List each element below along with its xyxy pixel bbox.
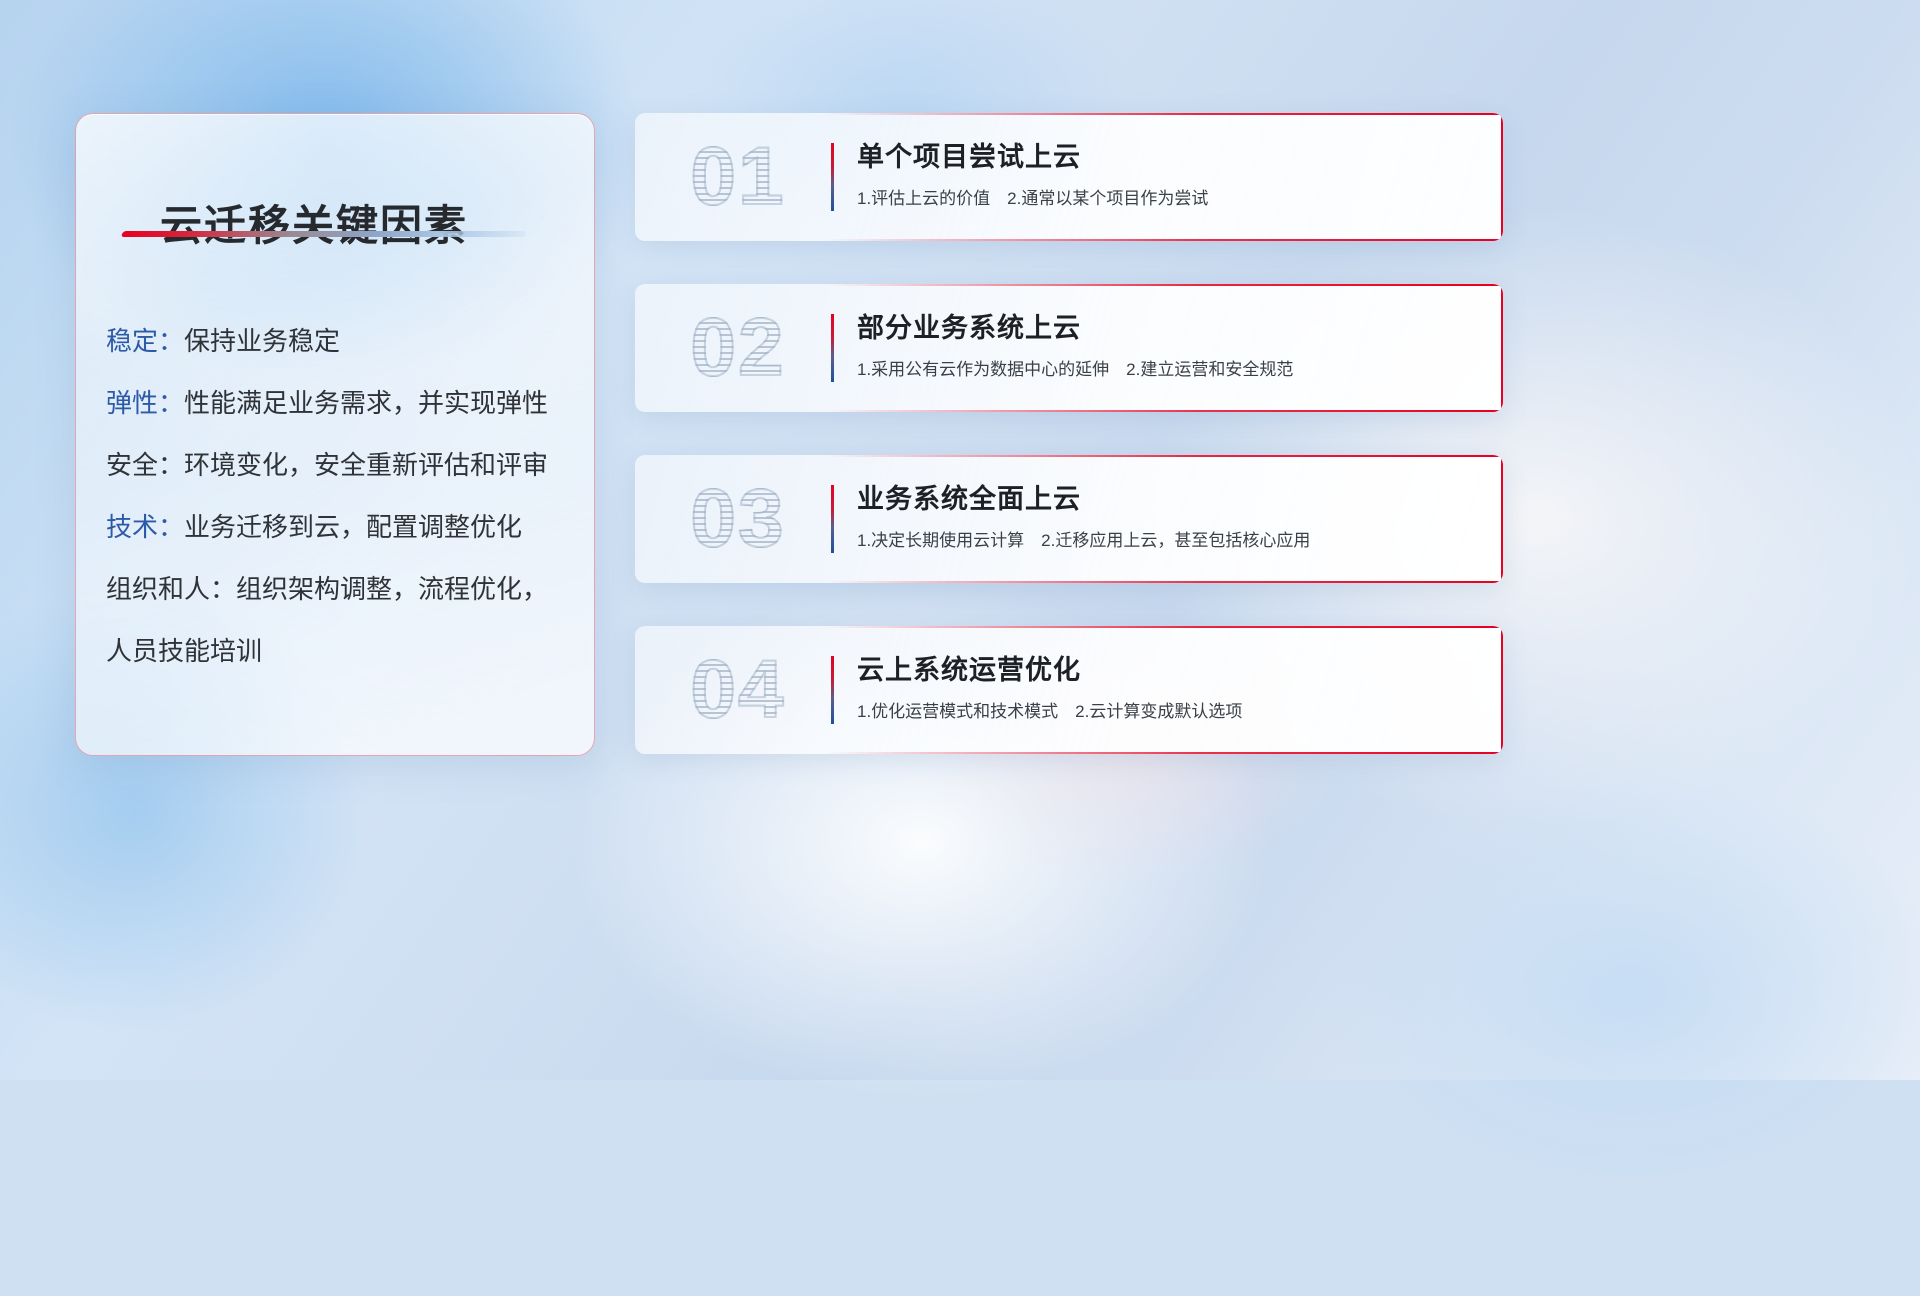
card-right-accent-line [1501,284,1503,412]
factor-text: 业务迁移到云，配置调整优化 [184,512,522,542]
step-title: 云上系统运营优化 [857,648,1463,687]
factor-label: 安全： [106,450,184,480]
card-top-accent-line [826,455,1503,457]
step-body: 部分业务系统上云1.采用公有云作为数据中心的延伸 2.建立运营和安全规范 [857,306,1463,380]
factor-label: 弹性： [106,388,184,418]
factor-text: 人员技能培训 [106,636,262,666]
factor-row: 技术：业务迁移到云，配置调整优化 [106,496,574,558]
factor-row: 组织和人：组织架构调整，流程优化， [106,558,574,620]
card-bottom-accent-line [826,581,1503,583]
factor-text: 性能满足业务需求，并实现弹性 [184,388,548,418]
factor-row: 弹性：性能满足业务需求，并实现弹性 [106,372,574,434]
factor-label: 技术： [106,512,184,542]
card-bottom-accent-line [826,239,1503,241]
step-number: 02 [663,298,813,398]
card-right-accent-line [1501,455,1503,583]
step-body: 云上系统运营优化1.优化运营模式和技术模式 2.云计算变成默认选项 [857,648,1463,722]
factor-text: 组织架构调整，流程优化， [236,574,548,604]
factor-label: 组织和人： [106,574,236,604]
step-title: 部分业务系统上云 [857,306,1463,345]
step-divider-bar [831,143,834,211]
factor-row: 人员技能培训 [106,620,574,682]
card-bottom-accent-line [826,410,1503,412]
card-right-accent-line [1501,113,1503,241]
factor-row: 稳定：保持业务稳定 [106,310,574,372]
step-number: 04 [663,640,813,740]
step-card-01[interactable]: 01单个项目尝试上云1.评估上云的价值 2.通常以某个项目作为尝试 [635,113,1503,241]
step-body: 单个项目尝试上云1.评估上云的价值 2.通常以某个项目作为尝试 [857,135,1463,209]
step-divider-bar [831,314,834,382]
step-description: 1.优化运营模式和技术模式 2.云计算变成默认选项 [857,697,1463,722]
step-divider-bar [831,485,834,553]
factor-text: 保持业务稳定 [184,326,340,356]
step-card-list: 01单个项目尝试上云1.评估上云的价值 2.通常以某个项目作为尝试02部分业务系… [635,113,1503,797]
step-description: 1.采用公有云作为数据中心的延伸 2.建立运营和安全规范 [857,355,1463,380]
card-right-accent-line [1501,626,1503,754]
factor-list: 稳定：保持业务稳定弹性：性能满足业务需求，并实现弹性安全：环境变化，安全重新评估… [106,310,574,682]
step-number: 03 [663,469,813,569]
step-number: 01 [663,127,813,227]
step-title: 单个项目尝试上云 [857,135,1463,174]
factor-row: 安全：环境变化，安全重新评估和评审 [106,434,574,496]
step-description: 1.决定长期使用云计算 2.迁移应用上云，甚至包括核心应用 [857,526,1463,551]
card-top-accent-line [826,284,1503,286]
page-title: 云迁移关键因素 [160,192,468,253]
step-divider-bar [831,656,834,724]
card-top-accent-line [826,113,1503,115]
title-underline-rule [121,231,527,237]
step-title: 业务系统全面上云 [857,477,1463,516]
card-top-accent-line [826,626,1503,628]
factor-label: 稳定： [106,326,184,356]
step-card-02[interactable]: 02部分业务系统上云1.采用公有云作为数据中心的延伸 2.建立运营和安全规范 [635,284,1503,412]
step-description: 1.评估上云的价值 2.通常以某个项目作为尝试 [857,184,1463,209]
card-bottom-accent-line [826,752,1503,754]
step-body: 业务系统全面上云1.决定长期使用云计算 2.迁移应用上云，甚至包括核心应用 [857,477,1463,551]
factor-text: 环境变化，安全重新评估和评审 [184,450,548,480]
step-card-04[interactable]: 04云上系统运营优化1.优化运营模式和技术模式 2.云计算变成默认选项 [635,626,1503,754]
step-card-03[interactable]: 03业务系统全面上云1.决定长期使用云计算 2.迁移应用上云，甚至包括核心应用 [635,455,1503,583]
key-factors-panel: 云迁移关键因素 稳定：保持业务稳定弹性：性能满足业务需求，并实现弹性安全：环境变… [75,113,595,756]
